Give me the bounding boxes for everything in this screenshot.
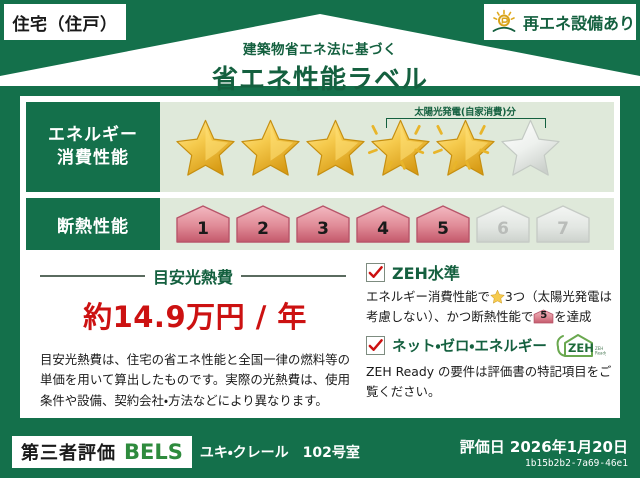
label-title: 省エネ性能ラベル — [0, 59, 640, 96]
check-icon — [368, 265, 383, 280]
zeh-netzero-body: ZEH Ready の要件は評価書の特記項目をご覧ください。 — [366, 362, 612, 402]
star-rating — [174, 116, 562, 178]
energy-label-line1: エネルギー — [48, 124, 138, 147]
zeh-netzero-checkbox[interactable] — [366, 336, 385, 355]
evaluation-id: 1b15b2b2-7a69-46e1 — [460, 458, 628, 469]
zeh-body-post: を達成 — [554, 309, 591, 324]
insulation-level-6: 6 — [474, 204, 532, 244]
insulation-level-2: 2 — [234, 204, 292, 244]
energy-label-card: 住宅（住戸） 再エネ設備あり 建築物省エネ法に基づく 省エネ性能ラベル エネルギ… — [0, 0, 640, 478]
building-name: ユキ・クレール 102号室 — [200, 442, 360, 462]
zeh-standard-body: エネルギー消費性能で3つ（太陽光発電は考慮しない）、かつ断熱性能で5を達成 — [366, 287, 612, 327]
house-type-label: 住宅（住戸） — [13, 10, 118, 35]
utility-cost-column: 目安光熱費 約14.9万円 / 年 目安光熱費は、住宅の省エネ性能と全国一律の燃… — [30, 260, 360, 412]
house-type-badge: 住宅（住戸） — [4, 4, 126, 40]
zeh-standard-block: ZEH水準 エネルギー消費性能で3つ（太陽光発電は考慮しない）、かつ断熱性能で5… — [366, 260, 612, 327]
bels-badge: 第三者評価 BELS — [12, 436, 192, 468]
zeh-netzero-title: ネット・ゼロ・エネルギー — [392, 335, 547, 356]
insulation-levels: 1 2 3 4 5 — [174, 204, 592, 244]
zeh-netzero-header: ネット・ゼロ・エネルギー ZEH ZEH Ready — [366, 333, 612, 359]
zeh-column: ZEH水準 エネルギー消費性能で3つ（太陽光発電は考慮しない）、かつ断熱性能で5… — [360, 260, 612, 412]
renewable-equipment-label: 再エネ設備あり — [523, 10, 635, 34]
level-number: 2 — [257, 219, 269, 244]
level-number: 4 — [377, 219, 389, 244]
third-party-label: 第三者評価 — [21, 439, 116, 465]
star-2 — [239, 116, 302, 178]
zeh-standard-title: ZEH水準 — [392, 260, 460, 284]
star-6-empty — [499, 116, 562, 178]
star-rating-field: 太陽光発電(自家消費)分 — [160, 102, 614, 192]
utility-cost-heading-text: 目安光熱費 — [153, 264, 233, 288]
renewable-equipment-badge: 再エネ設備あり — [484, 4, 636, 40]
inline-house-badge: 5 — [533, 309, 554, 324]
insulation-label-text: 断熱性能 — [57, 212, 129, 237]
zeh-netzero-block: ネット・ゼロ・エネルギー ZEH ZEH Ready ZEH Ready の要件… — [366, 333, 612, 402]
utility-cost-note: 目安光熱費は、住宅の省エネ性能と全国一律の燃料等の単価を用いて算出したものです。… — [40, 350, 350, 411]
rule-right — [241, 275, 346, 277]
sun-icon — [491, 9, 517, 35]
evaluation-date: 評価日 2026年1月20日 — [460, 436, 628, 457]
energy-performance-row: エネルギー 消費性能 太陽光発電(自家消費)分 — [26, 102, 614, 192]
level-number: 5 — [437, 219, 449, 244]
insulation-performance-row: 断熱性能 1 — [26, 198, 614, 250]
insulation-level-field: 1 2 3 4 5 — [160, 198, 614, 250]
utility-cost-value: 約14.9万円 / 年 — [30, 294, 360, 336]
insulation-performance-label: 断熱性能 — [26, 198, 160, 250]
label-subtitle: 建築物省エネ法に基づく — [0, 38, 640, 58]
check-icon — [368, 338, 383, 353]
insulation-level-3: 3 — [294, 204, 352, 244]
insulation-level-1: 1 — [174, 204, 232, 244]
insulation-level-7: 7 — [534, 204, 592, 244]
level-number: 3 — [317, 219, 329, 244]
insulation-level-4: 4 — [354, 204, 412, 244]
star-1 — [174, 116, 237, 178]
label-body-card: エネルギー 消費性能 太陽光発電(自家消費)分 — [20, 96, 620, 418]
inline-star-icon — [490, 289, 505, 304]
star-5-solar — [434, 116, 497, 178]
rule-left — [40, 275, 145, 277]
utility-cost-heading: 目安光熱費 — [40, 264, 346, 288]
zeh-body-pre: エネルギー消費性能で — [366, 289, 490, 304]
level-number: 7 — [557, 219, 569, 244]
lower-section: 目安光熱費 約14.9万円 / 年 目安光熱費は、住宅の省エネ性能と全国一律の燃… — [30, 260, 612, 412]
zeh-standard-checkbox[interactable] — [366, 263, 385, 282]
bels-logo-text: BELS — [124, 440, 183, 464]
inline-house-level: 5 — [533, 309, 554, 324]
energy-label-line2: 消費性能 — [57, 147, 129, 170]
svg-text:ZEH: ZEH — [568, 341, 594, 355]
star-3 — [304, 116, 367, 178]
energy-performance-label: エネルギー 消費性能 — [26, 102, 160, 192]
evaluation-info: 評価日 2026年1月20日 1b15b2b2-7a69-46e1 — [460, 436, 628, 469]
svg-text:Ready: Ready — [595, 350, 606, 355]
title-block: 建築物省エネ法に基づく 省エネ性能ラベル — [0, 38, 640, 96]
insulation-level-5: 5 — [414, 204, 472, 244]
zeh-standard-header: ZEH水準 — [366, 260, 612, 284]
level-number: 6 — [497, 219, 509, 244]
zeh-ready-logo-icon: ZEH ZEH Ready — [554, 333, 606, 359]
level-number: 1 — [197, 219, 209, 244]
footer-bar: 第三者評価 BELS ユキ・クレール 102号室 評価日 2026年1月20日 … — [0, 426, 640, 478]
star-4-solar — [369, 116, 432, 178]
